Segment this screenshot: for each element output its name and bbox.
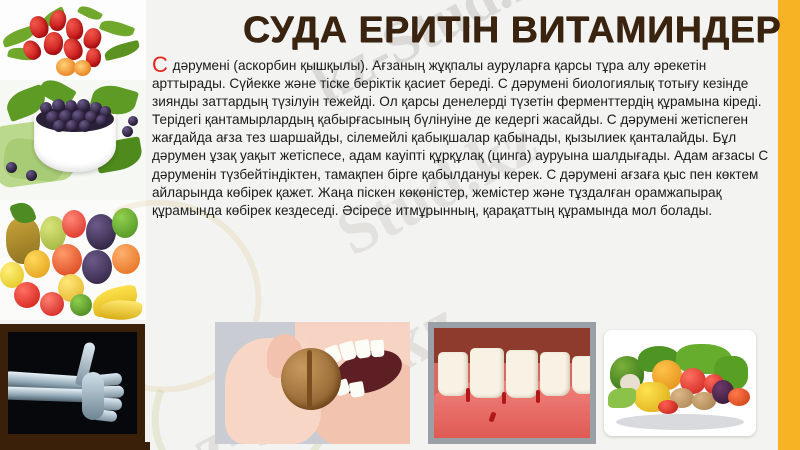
left-image-column [0,0,146,320]
slide-title: СУДА ЕРИТІН ВИТАМИНДЕР [268,4,776,54]
dropcap-letter: С [152,52,169,77]
image-person-biting-walnut [215,322,410,444]
slide-title-text: СУДА ЕРИТІН ВИТАМИНДЕР [243,11,781,48]
bottom-accent-strip [0,442,150,450]
image-rosehip-berries [0,0,146,80]
image-xray-hand-thumbs-up [0,324,145,442]
image-fresh-vegetables [604,330,756,436]
image-assorted-fruits [0,200,146,320]
bottom-image-row [0,322,800,450]
slide-body-text: С дәрумені (аскорбин қышқылы). Ағзаның ж… [152,56,774,220]
body-paragraph: дәрумені (аскорбин қышқылы). Ағзаның жұқ… [152,58,768,218]
slide: kz-Stud.kz Stud.kz z-Stud.kz СУДА ЕРИТІН… [0,0,800,450]
image-blackcurrants-bowl [0,80,146,200]
image-bleeding-gums [428,322,596,444]
